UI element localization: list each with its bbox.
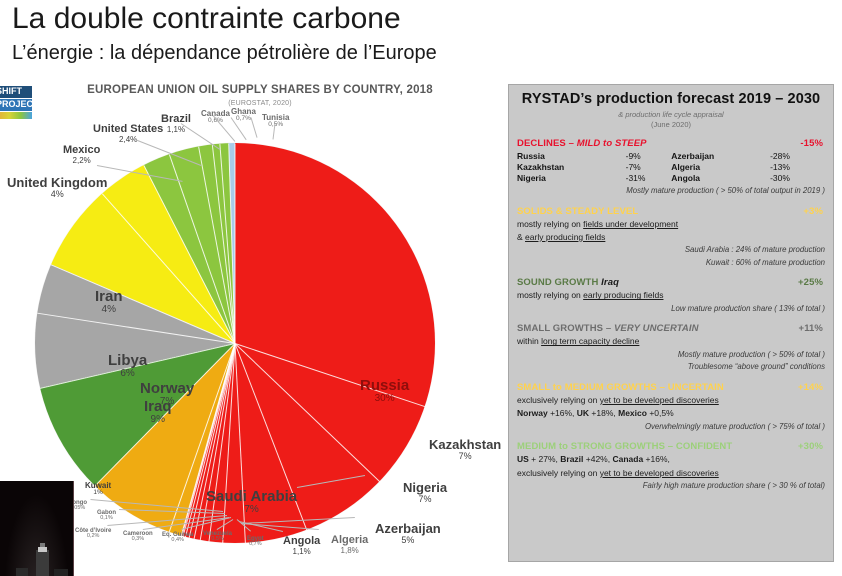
pie-label-value: 0,2%: [75, 534, 111, 540]
pie-label-egypt: Egypt0,7%: [247, 536, 264, 548]
pie-label-value: 0,1%: [97, 516, 116, 522]
section-percentage: +14%: [798, 382, 823, 393]
forecast-section: SMALL to MEDIUM GROWTHS – UNCERTAIN+14%e…: [517, 382, 825, 432]
section-heading-main: SMALL GROWTHS: [517, 323, 603, 334]
pie-label-tunisia: Tunisia0,5%: [262, 114, 289, 129]
pie-label-name: Angola: [283, 536, 320, 548]
country-name: Azerbaijan: [671, 151, 770, 162]
pie-separator: [235, 144, 236, 344]
pie-label-name: Iraq: [144, 399, 172, 415]
forecast-section: MEDIUM to STRONG GROWTHS – CONFIDENT+30%…: [517, 441, 825, 491]
section-heading: DECLINES – MILD to STEEP-15%: [517, 138, 825, 149]
country-value: -31%: [626, 173, 672, 184]
section-percentage: +25%: [798, 277, 823, 288]
section-heading-rest: – VERY UNCERTAIN: [603, 323, 699, 334]
pie-label-value: 1,1%: [283, 548, 320, 556]
pie-label-value: 4%: [7, 190, 107, 199]
country-name: Angola: [671, 173, 770, 184]
section-heading-rest: – MILD to STEEP: [566, 138, 647, 149]
pie-label-value: 0,5%: [262, 122, 289, 129]
section-note: Saudi Arabia : 24% of mature production: [517, 245, 825, 256]
pie-label-value: 9%: [144, 415, 172, 426]
pie-label-eq-guinea: Eq. Guinea0,4%: [162, 532, 193, 544]
pie-label-brazil: Brazil1,1%: [161, 114, 191, 134]
webcam-video-overlay[interactable]: [0, 481, 74, 576]
pie-label-value: 0,4%: [162, 538, 193, 544]
country-value: -13%: [770, 162, 816, 173]
section-percentage: -15%: [800, 138, 823, 149]
speaker-silhouette: [36, 550, 49, 576]
declines-table: Russia-9%Azerbaijan-28%Kazakhstan-7%Alge…: [517, 151, 816, 184]
section-body-line: & early producing fields: [517, 232, 825, 243]
pie-label-name: Iran: [95, 289, 123, 305]
page-subtitle: L’énergie : la dépendance pétrolière de …: [12, 42, 437, 65]
pie-label-value: 7%: [403, 495, 447, 504]
chart-source: (EUROSTAT, 2020): [60, 100, 460, 107]
section-note: Fairly high mature production share ( > …: [517, 481, 825, 492]
forecast-section: SMALL GROWTHS – VERY UNCERTAIN+11%within…: [517, 323, 825, 373]
pie-label-azerbaijan: Azerbaijan5%: [375, 522, 441, 545]
section-heading: SOLIDS & STEADY LEVEL+3%: [517, 206, 825, 217]
shift-project-logo: SHIFT PROJECT: [0, 86, 32, 128]
pie-label-name: Brazil: [161, 114, 191, 126]
pie-label-iran: Iran4%: [95, 289, 123, 315]
section-body-line: within long term capacity decline: [517, 336, 825, 347]
country-name: Kazakhstan: [517, 162, 626, 173]
pie-label-venezuela: Venezuela0,5%: [203, 531, 232, 543]
pie-label-name: Russia: [360, 378, 409, 394]
pie-label-name: Libya: [108, 353, 147, 369]
pie-label-value: 0,3%: [123, 537, 153, 543]
section-body-line: exclusively relying on yet to be develop…: [517, 468, 825, 479]
pie-label-c-te-d-ivoire: Côte d’Ivoire0,2%: [75, 528, 111, 540]
section-note: Kuwait : 60% of mature production: [517, 258, 825, 269]
country-name: Russia: [517, 151, 626, 162]
stage-object-left: [16, 568, 28, 576]
pie-chart: Russia30%Norway7%Saudi Arabia7%Iraq9%Lib…: [35, 143, 435, 543]
section-note: Mostly mature production ( > 50% of tota…: [517, 350, 825, 361]
panel-sections: DECLINES – MILD to STEEP-15%Russia-9%Aze…: [517, 138, 825, 492]
panel-subtitle-appraisal: & production life cycle appraisal: [517, 110, 825, 119]
pie-label-value: 0,5%: [203, 537, 232, 543]
table-row: Nigeria-31%Angola-30%: [517, 173, 816, 184]
pie-label-value: 2,4%: [93, 136, 163, 144]
pie-label-algeria: Algeria1,8%: [331, 535, 368, 555]
section-heading-main: SMALL to MEDIUM GROWTHS – UNCERTAIN: [517, 382, 724, 393]
country-value: -7%: [626, 162, 672, 173]
pie-label-iraq: Iraq9%: [144, 399, 172, 425]
forecast-section: SOLIDS & STEADY LEVEL+3%mostly relying o…: [517, 206, 825, 269]
pie-label-value: 1%: [85, 490, 111, 497]
pie-label-name: Algeria: [331, 535, 368, 547]
table-row: Russia-9%Azerbaijan-28%: [517, 151, 816, 162]
section-body-line: exclusively relying on yet to be develop…: [517, 395, 825, 406]
country-value: -30%: [770, 173, 816, 184]
section-body-line: Norway +16%, UK +18%, Mexico +0,5%: [517, 408, 825, 419]
section-note: Mostly mature production ( > 50% of tota…: [517, 186, 825, 197]
pie-label-gabon: Gabon0,1%: [97, 510, 116, 522]
section-note: Low mature production share ( 13% of tot…: [517, 304, 825, 315]
section-heading: SOUND GROWTH Iraq+25%: [517, 277, 825, 288]
chart-title: EUROPEAN UNION OIL SUPPLY SHARES BY COUN…: [60, 84, 460, 96]
speaker-head: [38, 547, 47, 552]
country-value: -9%: [626, 151, 672, 162]
section-heading: SMALL to MEDIUM GROWTHS – UNCERTAIN+14%: [517, 382, 825, 393]
section-heading-main: SOUND GROWTH: [517, 277, 598, 288]
pie-label-russia: Russia30%: [360, 378, 409, 404]
pie-label-name: Mexico: [63, 145, 100, 157]
pie-label-kuwait: Kuwait1%: [85, 482, 111, 497]
logo-text-project: PROJECT: [0, 99, 32, 110]
section-heading-main: MEDIUM to STRONG GROWTHS – CONFIDENT: [517, 441, 732, 452]
section-percentage: +30%: [798, 441, 823, 452]
country-name: Algeria: [671, 162, 770, 173]
pie-label-value: 6%: [108, 369, 147, 380]
pie-label-value: 7%: [429, 452, 501, 461]
rystad-forecast-panel: RYSTAD’s production forecast 2019 – 2030…: [508, 84, 834, 562]
table-row: Kazakhstan-7%Algeria-13%: [517, 162, 816, 173]
pie-label-mexico: Mexico2,2%: [63, 145, 100, 165]
panel-title: RYSTAD’s production forecast 2019 – 2030: [517, 91, 825, 107]
pie-label-name: Azerbaijan: [375, 522, 441, 536]
section-percentage: +11%: [799, 323, 823, 334]
pie-label-value: 0,7%: [247, 542, 264, 548]
page-title: La double contrainte carbone: [12, 2, 401, 36]
pie-label-cameroon: Cameroon0,3%: [123, 531, 153, 543]
pie-label-value: 1,8%: [331, 547, 368, 555]
pie-label-value: 30%: [360, 394, 409, 405]
pie-label-kazakhstan: Kazakhstan7%: [429, 438, 501, 461]
logo-band-colors: [0, 112, 32, 119]
section-heading-main: DECLINES: [517, 138, 566, 149]
section-percentage: +3%: [803, 206, 823, 217]
pie-label-united-states: United States2,4%: [93, 124, 163, 144]
pie-label-name: United States: [93, 124, 163, 136]
pie-label-value: 5%: [375, 536, 441, 545]
pie-label-name: Norway: [140, 381, 194, 397]
pie-label-libya: Libya6%: [108, 353, 147, 379]
logo-text-shift: SHIFT: [0, 86, 22, 97]
pie-label-value: 4%: [95, 305, 123, 316]
pie-label-name: Nigeria: [403, 481, 447, 495]
country-name: Nigeria: [517, 173, 626, 184]
section-body-line: US + 27%, Brazil +42%, Canada +16%,: [517, 454, 825, 465]
pie-label-angola: Angola1,1%: [283, 536, 320, 556]
panel-subtitle-date: (June 2020): [517, 120, 825, 129]
forecast-section: SOUND GROWTH Iraq+25%mostly relying on e…: [517, 277, 825, 314]
section-heading: MEDIUM to STRONG GROWTHS – CONFIDENT+30%: [517, 441, 825, 452]
pie-label-name: Kazakhstan: [429, 438, 501, 452]
stage-object-right: [54, 569, 68, 576]
pie-label-name: Saudi Arabia: [206, 489, 297, 505]
section-heading: SMALL GROWTHS – VERY UNCERTAIN+11%: [517, 323, 825, 334]
section-body-line: mostly relying on early producing fields: [517, 290, 825, 301]
forecast-section: DECLINES – MILD to STEEP-15%Russia-9%Aze…: [517, 138, 825, 197]
country-value: -28%: [770, 151, 816, 162]
section-note: Troublesome “above ground” conditions: [517, 362, 825, 373]
section-note: Overwhelmingly mature production ( > 75%…: [517, 422, 825, 433]
pie-label-nigeria: Nigeria7%: [403, 481, 447, 504]
section-heading-main: SOLIDS & STEADY LEVEL: [517, 206, 638, 217]
section-heading-rest: Iraq: [598, 277, 619, 288]
pie-label-value: 2,2%: [63, 157, 100, 165]
logo-band-bottom: [0, 119, 32, 124]
section-body-line: mostly relying on fields under developme…: [517, 219, 825, 230]
pie-label-united-kingdom: United Kingdom4%: [7, 176, 107, 199]
pie-label-name: United Kingdom: [7, 176, 107, 190]
